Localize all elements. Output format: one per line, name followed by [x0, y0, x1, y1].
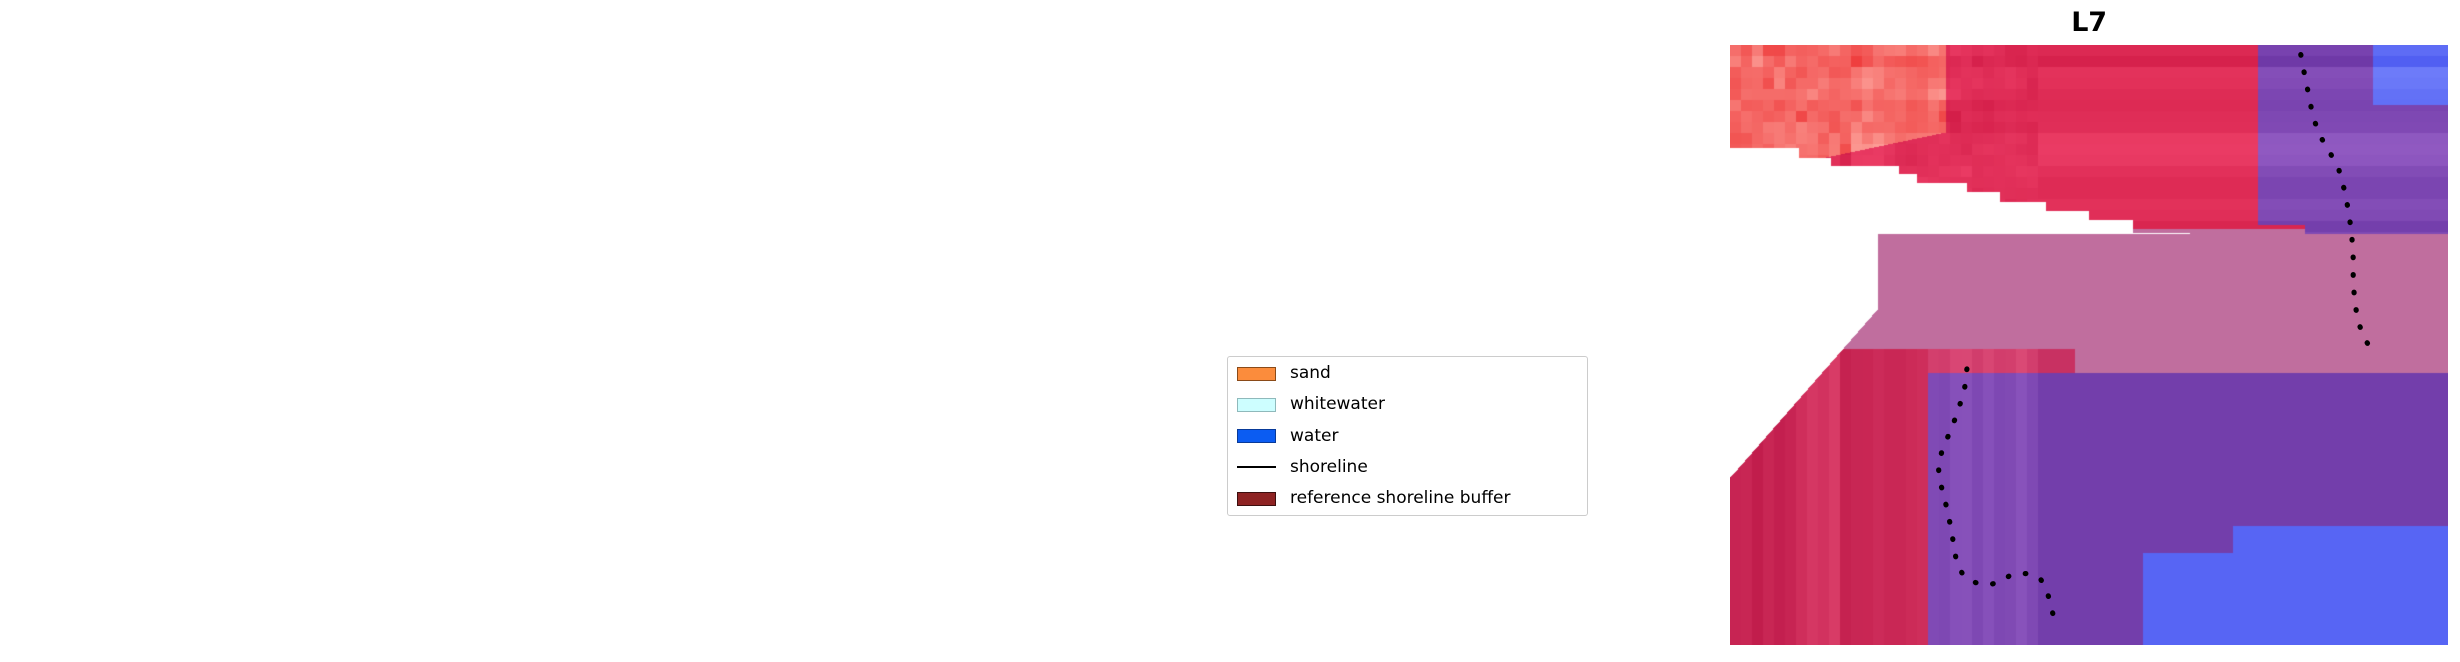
panel-l7: L7: [0, 0, 2460, 662]
shoreline-overlay-l7: [1730, 45, 2448, 645]
image-classified: [872, 45, 1588, 645]
raster-l7: [1730, 45, 2448, 645]
figure-root: sar1756 2015-02-06-09-58-39 L7 sandwhite…: [0, 0, 2460, 662]
panel-title-sar1756: sar1756: [15, 6, 730, 40]
map-legend: sandwhitewaterwatershorelinereference sh…: [1227, 356, 1588, 516]
legend-swatch-reference-shoreline-buffer-icon: [1237, 492, 1276, 506]
shoreline-overlay-classified: [872, 45, 1588, 645]
legend-row-reference-shoreline-buffer: reference shoreline buffer: [1237, 489, 1577, 508]
legend-label: reference shoreline buffer: [1290, 489, 1511, 508]
legend-row-water: water: [1237, 427, 1577, 446]
legend-row-shoreline: shoreline: [1237, 458, 1577, 477]
panel-title-l7: L7: [1730, 6, 2448, 40]
legend-label: shoreline: [1290, 458, 1368, 477]
legend-row-whitewater: whitewater: [1237, 395, 1577, 414]
raster-sar: [15, 45, 730, 645]
image-sar1756: [15, 45, 730, 645]
image-l7: [1730, 45, 2448, 645]
shoreline-path-upper: [1441, 55, 1513, 353]
legend-swatch-shoreline-icon: [1237, 460, 1276, 474]
legend-label: sand: [1290, 364, 1331, 383]
shoreline-path-upper: [583, 55, 655, 353]
legend-label: water: [1290, 427, 1338, 446]
shoreline-path-lower: [222, 369, 338, 628]
shoreline-path-upper: [2301, 55, 2374, 353]
legend-swatch-whitewater-icon: [1237, 398, 1276, 412]
shoreline-overlay-sar: [15, 45, 730, 645]
shoreline-path-lower: [1938, 369, 2054, 628]
legend-swatch-sand-icon: [1237, 367, 1276, 381]
legend-row-sand: sand: [1237, 364, 1577, 383]
panel-classified: 2015-02-06-09-58-39: [0, 0, 2460, 662]
shoreline-path-lower: [1080, 369, 1196, 628]
legend-label: whitewater: [1290, 395, 1385, 414]
panel-sar1756: sar1756: [0, 0, 2460, 662]
panel-title-classified: 2015-02-06-09-58-39: [872, 6, 1588, 40]
raster-classified: [872, 45, 1588, 645]
legend-swatch-water-icon: [1237, 429, 1276, 443]
